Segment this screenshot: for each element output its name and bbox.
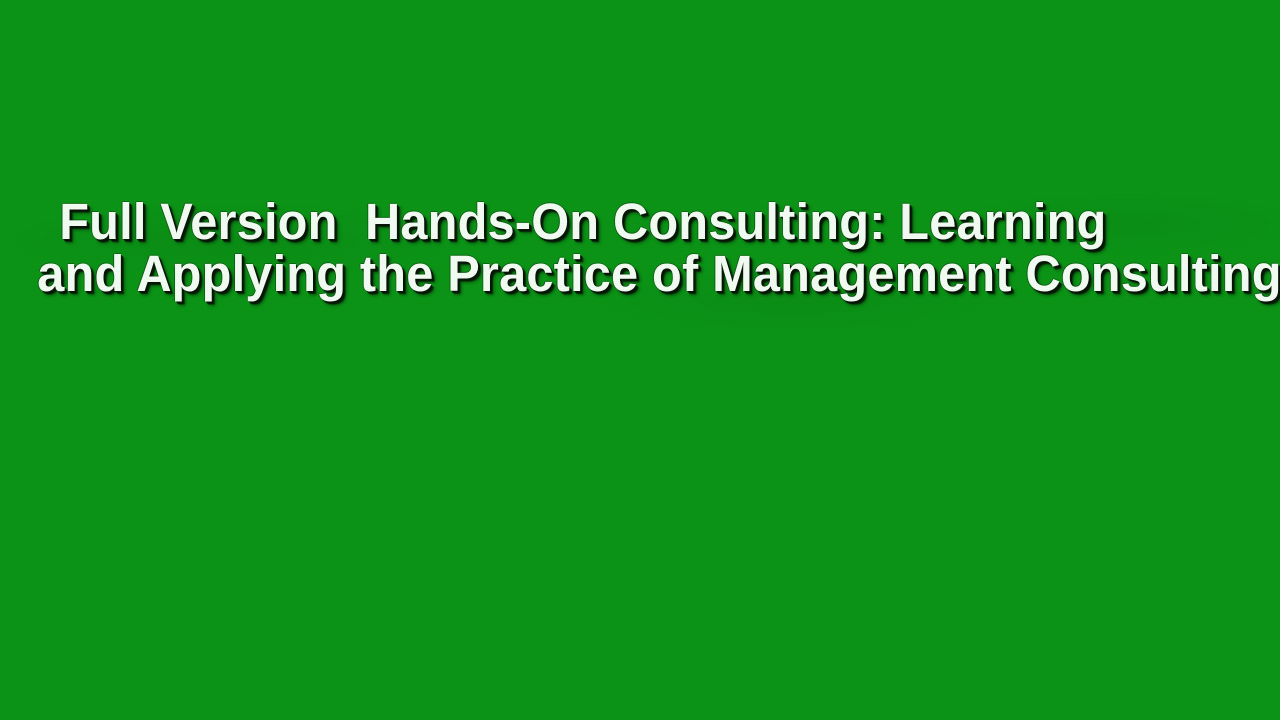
- title-card-screen: Full Version Hands-On Consulting: Learni…: [0, 0, 1280, 720]
- title-line-2: and Applying the Practice of Management …: [0, 248, 1222, 300]
- compression-noise-overlay: [0, 0, 1280, 720]
- title-line-1: Full Version Hands-On Consulting: Learni…: [0, 196, 1222, 248]
- title-text-block: Full Version Hands-On Consulting: Learni…: [0, 196, 1280, 300]
